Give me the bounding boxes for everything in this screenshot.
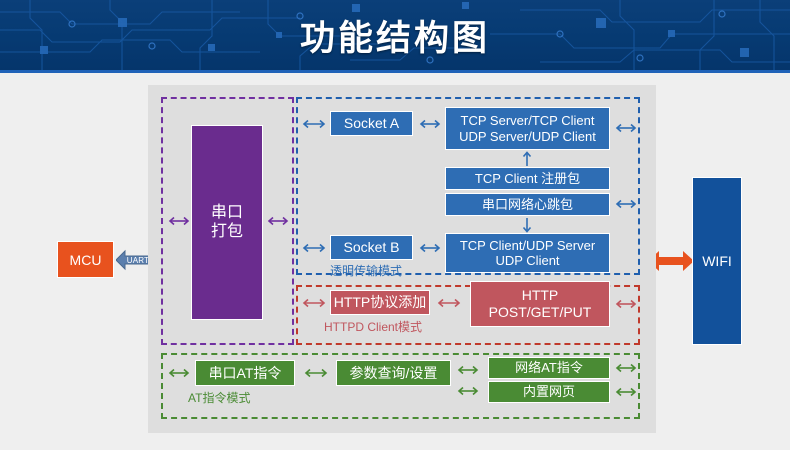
serial-left-double-arrow-icon (167, 215, 191, 227)
http-left-arrow-icon (301, 297, 327, 309)
http-middle-arrow-icon (436, 297, 462, 309)
serial-at-command-box: 串口AT指令 (195, 360, 295, 386)
tcp-client-register-packet-box: TCP Client 注册包 (445, 167, 610, 190)
tcp-udp-server-client-box: TCP Server/TCP Client UDP Server/UDP Cli… (445, 107, 610, 150)
network-at-command-box: 网络AT指令 (488, 357, 610, 379)
httpd-mode-label: HTTPD Client模式 (324, 318, 422, 335)
mcu-box: MCU (57, 241, 114, 278)
transparent-mode-label: 透明传输模式 (330, 262, 402, 279)
tcp-udp-server-client-line1: TCP Server/TCP Client (461, 113, 595, 128)
tcp-client-udp-server-line2: UDP Client (495, 253, 559, 268)
serial-network-heartbeat-box: 串口网络心跳包 (445, 193, 610, 216)
at-mode-label: AT指令模式 (188, 389, 250, 406)
web-page-right-arrow-icon (614, 386, 638, 398)
serial-packing-line1: 串口 (211, 204, 243, 223)
http-right-arrow-icon (614, 298, 638, 310)
wifi-box: WIFI (692, 177, 742, 345)
socket-b-box: Socket B (330, 235, 413, 260)
http-methods-line1: HTTP (522, 287, 559, 304)
heartbeat-right-arrow-icon (614, 198, 638, 210)
builtin-web-page-label: 内置网页 (523, 384, 575, 399)
tcp-client-udp-server-box: TCP Client/UDP Server UDP Client (445, 233, 610, 273)
at-middle-arrow-icon (303, 367, 329, 379)
socket-a-left-arrow-icon (301, 118, 327, 130)
builtin-web-page-box: 内置网页 (488, 381, 610, 403)
http-methods-line2: POST/GET/PUT (489, 304, 592, 321)
socket-b-label: Socket B (343, 239, 399, 256)
heartbeat-packet-label: 串口网络心跳包 (482, 197, 573, 212)
param-query-box: 参数查询/设置 (336, 360, 451, 386)
network-at-command-label: 网络AT指令 (515, 360, 583, 375)
wifi-label: WIFI (702, 253, 732, 269)
page-banner: 功能结构图 (0, 0, 790, 73)
tcp-udp-server-client-line2: UDP Server/UDP Client (459, 129, 596, 144)
diagram-page: 功能结构图 MCU UART WIFI 串口 打包 (0, 0, 790, 450)
socket-a-right-arrow-icon (418, 118, 442, 130)
http-protocol-add-box: HTTP协议添加 (330, 290, 430, 315)
client-down-arrow-icon (521, 217, 533, 233)
network-at-right-arrow-icon (614, 362, 638, 374)
register-packet-up-arrow-icon (521, 151, 533, 167)
socket-b-left-arrow-icon (301, 242, 327, 254)
register-packet-label: TCP Client 注册包 (475, 171, 580, 186)
socket-b-right-arrow-icon (418, 242, 442, 254)
serial-packing-line2: 打包 (211, 223, 243, 242)
socket-a-label: Socket A (344, 115, 399, 132)
param-query-label: 参数查询/设置 (350, 365, 438, 382)
socket-a-box: Socket A (330, 111, 413, 136)
mcu-label: MCU (70, 252, 102, 268)
diagram-stage: 串口 打包 (148, 85, 656, 433)
at-left-arrow-icon (167, 367, 191, 379)
tcp-client-udp-server-line1: TCP Client/UDP Server (460, 238, 595, 253)
web-page-arrow-icon (456, 385, 480, 397)
serial-at-command-label: 串口AT指令 (209, 365, 282, 382)
server-client-right-arrow-icon (614, 122, 638, 134)
http-protocol-add-label: HTTP协议添加 (334, 294, 427, 311)
http-methods-box: HTTP POST/GET/PUT (470, 281, 610, 327)
page-title: 功能结构图 (0, 0, 790, 70)
serial-packing-box: 串口 打包 (191, 125, 263, 320)
network-at-arrow-icon (456, 364, 480, 376)
serial-right-double-arrow-icon (266, 215, 290, 227)
